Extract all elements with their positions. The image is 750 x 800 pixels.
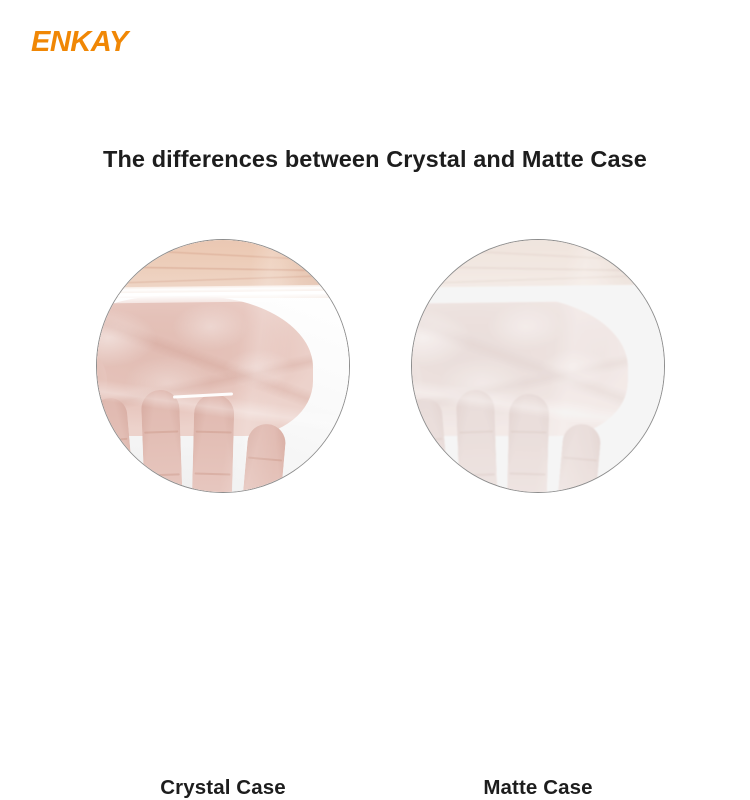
- comparison-item-crystal: Crystal Case: [97, 240, 349, 492]
- crystal-case-photo: [97, 240, 349, 492]
- finger-ring: [456, 389, 498, 492]
- finger-index: [556, 423, 602, 492]
- crystal-case-scene-image: [97, 240, 349, 492]
- fingers-group: [412, 384, 664, 492]
- finger-pinky: [97, 397, 136, 492]
- comparison-section: Crystal Case: [0, 0, 750, 750]
- matte-case-photo: [412, 240, 664, 492]
- comparison-item-matte: Matte Case: [412, 240, 664, 492]
- fingers-group: [97, 384, 349, 492]
- finger-middle: [506, 393, 549, 492]
- matte-case-scene-image: [412, 240, 664, 492]
- finger-middle: [191, 393, 234, 492]
- finger-pinky: [412, 397, 451, 492]
- finger-index: [241, 423, 287, 492]
- caption-matte-case: Matte Case: [412, 776, 664, 800]
- finger-ring: [141, 389, 183, 492]
- caption-crystal-case: Crystal Case: [97, 776, 349, 800]
